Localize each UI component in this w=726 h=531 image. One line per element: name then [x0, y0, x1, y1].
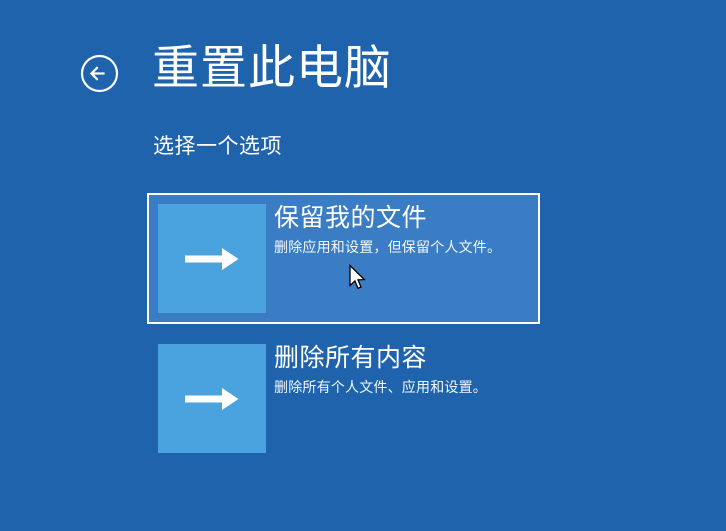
- option-text-block: 保留我的文件 删除应用和设置，但保留个人文件。: [274, 201, 532, 257]
- option-keep-my-files[interactable]: 保留我的文件 删除应用和设置，但保留个人文件。: [147, 193, 540, 324]
- option-icon-tile: [158, 344, 266, 453]
- option-icon-tile: [158, 204, 266, 313]
- option-text-block: 删除所有内容 删除所有个人文件、应用和设置。: [274, 341, 532, 397]
- option-remove-everything[interactable]: 删除所有内容 删除所有个人文件、应用和设置。: [147, 333, 540, 464]
- option-title: 保留我的文件: [274, 201, 532, 235]
- option-list: 保留我的文件 删除应用和设置，但保留个人文件。 删除所有内容 删除所有个人文件、…: [0, 0, 726, 531]
- option-description: 删除应用和设置，但保留个人文件。: [274, 237, 532, 257]
- option-description: 删除所有个人文件、应用和设置。: [274, 377, 532, 397]
- option-title: 删除所有内容: [274, 341, 532, 375]
- reset-this-pc-screen: 重置此电脑 选择一个选项 保留我的文件 删除应用和设置，但保留个人文件。: [0, 0, 726, 531]
